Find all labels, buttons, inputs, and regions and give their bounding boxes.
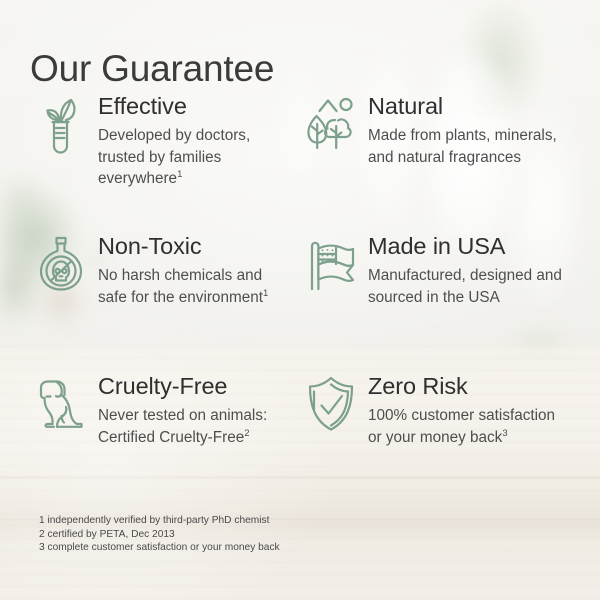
- feature-natural: Natural Made from plants, minerals, and …: [300, 92, 578, 232]
- footnote-1: 1 independently verified by third-party …: [39, 514, 280, 528]
- footnote-marker: 2: [244, 427, 249, 438]
- usa-flag-icon: [300, 232, 362, 306]
- feature-title: Cruelty-Free: [98, 372, 276, 401]
- feature-description-text: Developed by doctors, trusted by familie…: [98, 127, 250, 187]
- feature-grid: Effective Developed by doctors, trusted …: [30, 92, 578, 512]
- feature-description: Manufactured, designed and sourced in th…: [368, 265, 564, 308]
- footnote-2: 2 certified by PETA, Dec 2013: [39, 528, 280, 542]
- feature-made-in-usa: Made in USA Manufactured, designed and s…: [300, 232, 578, 372]
- feature-text: Cruelty-Free Never tested on animals: Ce…: [92, 372, 276, 448]
- feature-cruelty-free: Cruelty-Free Never tested on animals: Ce…: [30, 372, 300, 512]
- feature-description: Never tested on animals: Certified Cruel…: [98, 405, 276, 448]
- sitting-dog-icon: [30, 372, 92, 446]
- feature-title: Made in USA: [368, 232, 564, 261]
- feature-description-text: No harsh chemicals and safe for the envi…: [98, 267, 263, 306]
- shield-check-icon: [300, 372, 362, 446]
- feature-description-text: Manufactured, designed and sourced in th…: [368, 267, 562, 306]
- feature-description-text: Never tested on animals: Certified Cruel…: [98, 407, 267, 446]
- feature-text: Effective Developed by doctors, trusted …: [92, 92, 276, 190]
- feature-description: Made from plants, minerals, and natural …: [368, 125, 564, 168]
- feature-title: Zero Risk: [368, 372, 564, 401]
- footnote-3: 3 complete customer satisfaction or your…: [39, 541, 280, 555]
- trees-sun-icon: [300, 92, 362, 166]
- feature-zero-risk: Zero Risk 100% customer satisfaction or …: [300, 372, 578, 512]
- feature-non-toxic: Non-Toxic No harsh chemicals and safe fo…: [30, 232, 300, 372]
- feature-text: Made in USA Manufactured, designed and s…: [362, 232, 564, 308]
- feature-text: Zero Risk 100% customer satisfaction or …: [362, 372, 564, 448]
- feature-description-text: Made from plants, minerals, and natural …: [368, 127, 557, 166]
- guarantee-infographic: Our Guarantee Effective: [0, 0, 600, 600]
- poison-bottle-crossed-out-icon: [30, 232, 92, 306]
- feature-description: Developed by doctors, trusted by familie…: [98, 125, 276, 190]
- footnote-marker: 1: [263, 287, 268, 298]
- feature-description: No harsh chemicals and safe for the envi…: [98, 265, 276, 308]
- footnote-marker: 1: [177, 169, 182, 180]
- footnotes-block: 1 independently verified by third-party …: [39, 514, 280, 555]
- feature-title: Non-Toxic: [98, 232, 276, 261]
- feature-text: Non-Toxic No harsh chemicals and safe fo…: [92, 232, 276, 308]
- feature-text: Natural Made from plants, minerals, and …: [362, 92, 564, 168]
- feature-effective: Effective Developed by doctors, trusted …: [30, 92, 300, 232]
- footnote-marker: 3: [502, 427, 507, 438]
- feature-description: 100% customer satisfaction or your money…: [368, 405, 564, 448]
- test-tube-leaf-icon: [30, 92, 92, 166]
- feature-title: Natural: [368, 92, 564, 121]
- feature-description-text: 100% customer satisfaction or your money…: [368, 407, 555, 446]
- page-title: Our Guarantee: [30, 47, 274, 91]
- feature-title: Effective: [98, 92, 276, 121]
